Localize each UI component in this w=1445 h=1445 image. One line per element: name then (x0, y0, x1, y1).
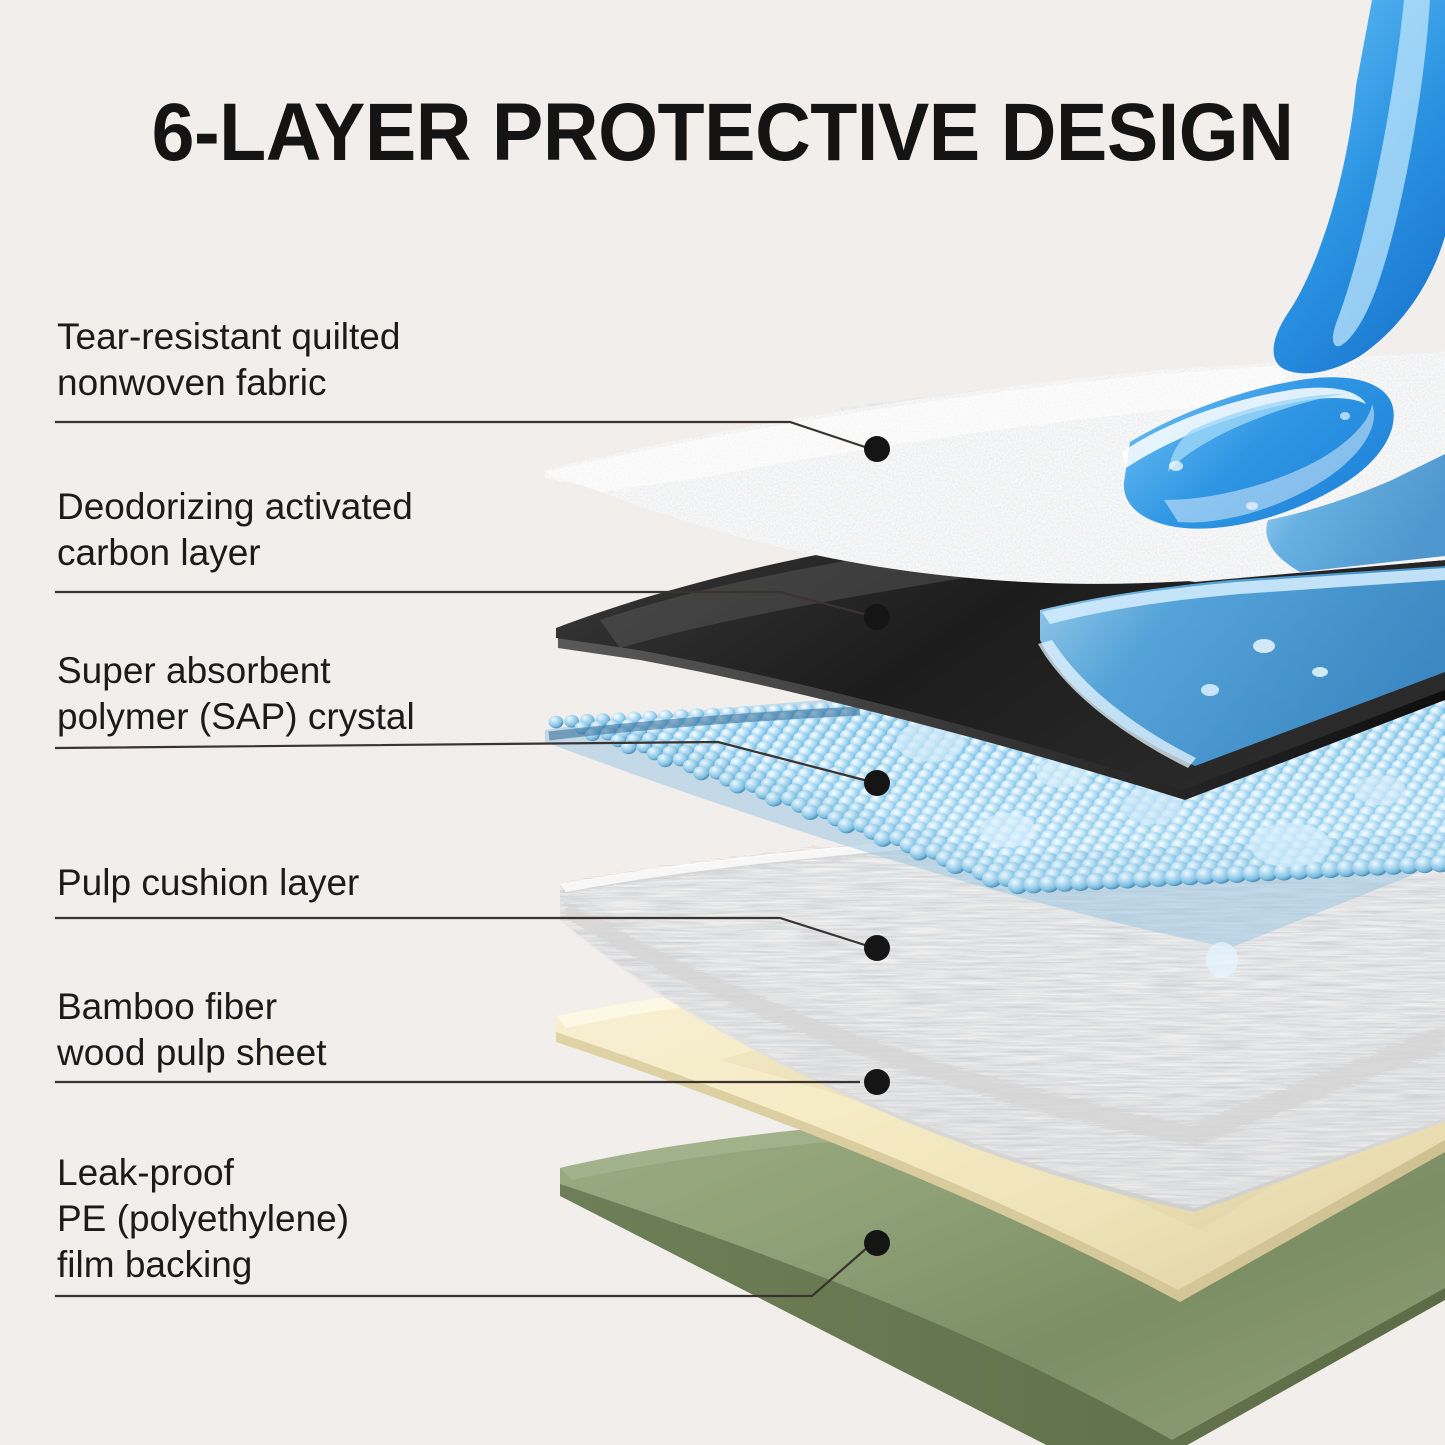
label-pulp: Pulp cushion layer (57, 860, 359, 906)
label-pefilm: Leak-proof PE (polyethylene) film backin… (57, 1150, 349, 1288)
page-title: 6-LAYER PROTECTIVE DESIGN (43, 86, 1401, 180)
infographic-canvas: 6-LAYER PROTECTIVE DESIGN Tear-resistant… (0, 0, 1445, 1445)
label-carbon: Deodorizing activated carbon layer (57, 484, 413, 576)
label-sap: Super absorbent polymer (SAP) crystal (57, 648, 415, 740)
label-bamboo: Bamboo fiber wood pulp sheet (57, 984, 326, 1076)
label-nonwoven: Tear-resistant quilted nonwoven fabric (57, 314, 400, 406)
